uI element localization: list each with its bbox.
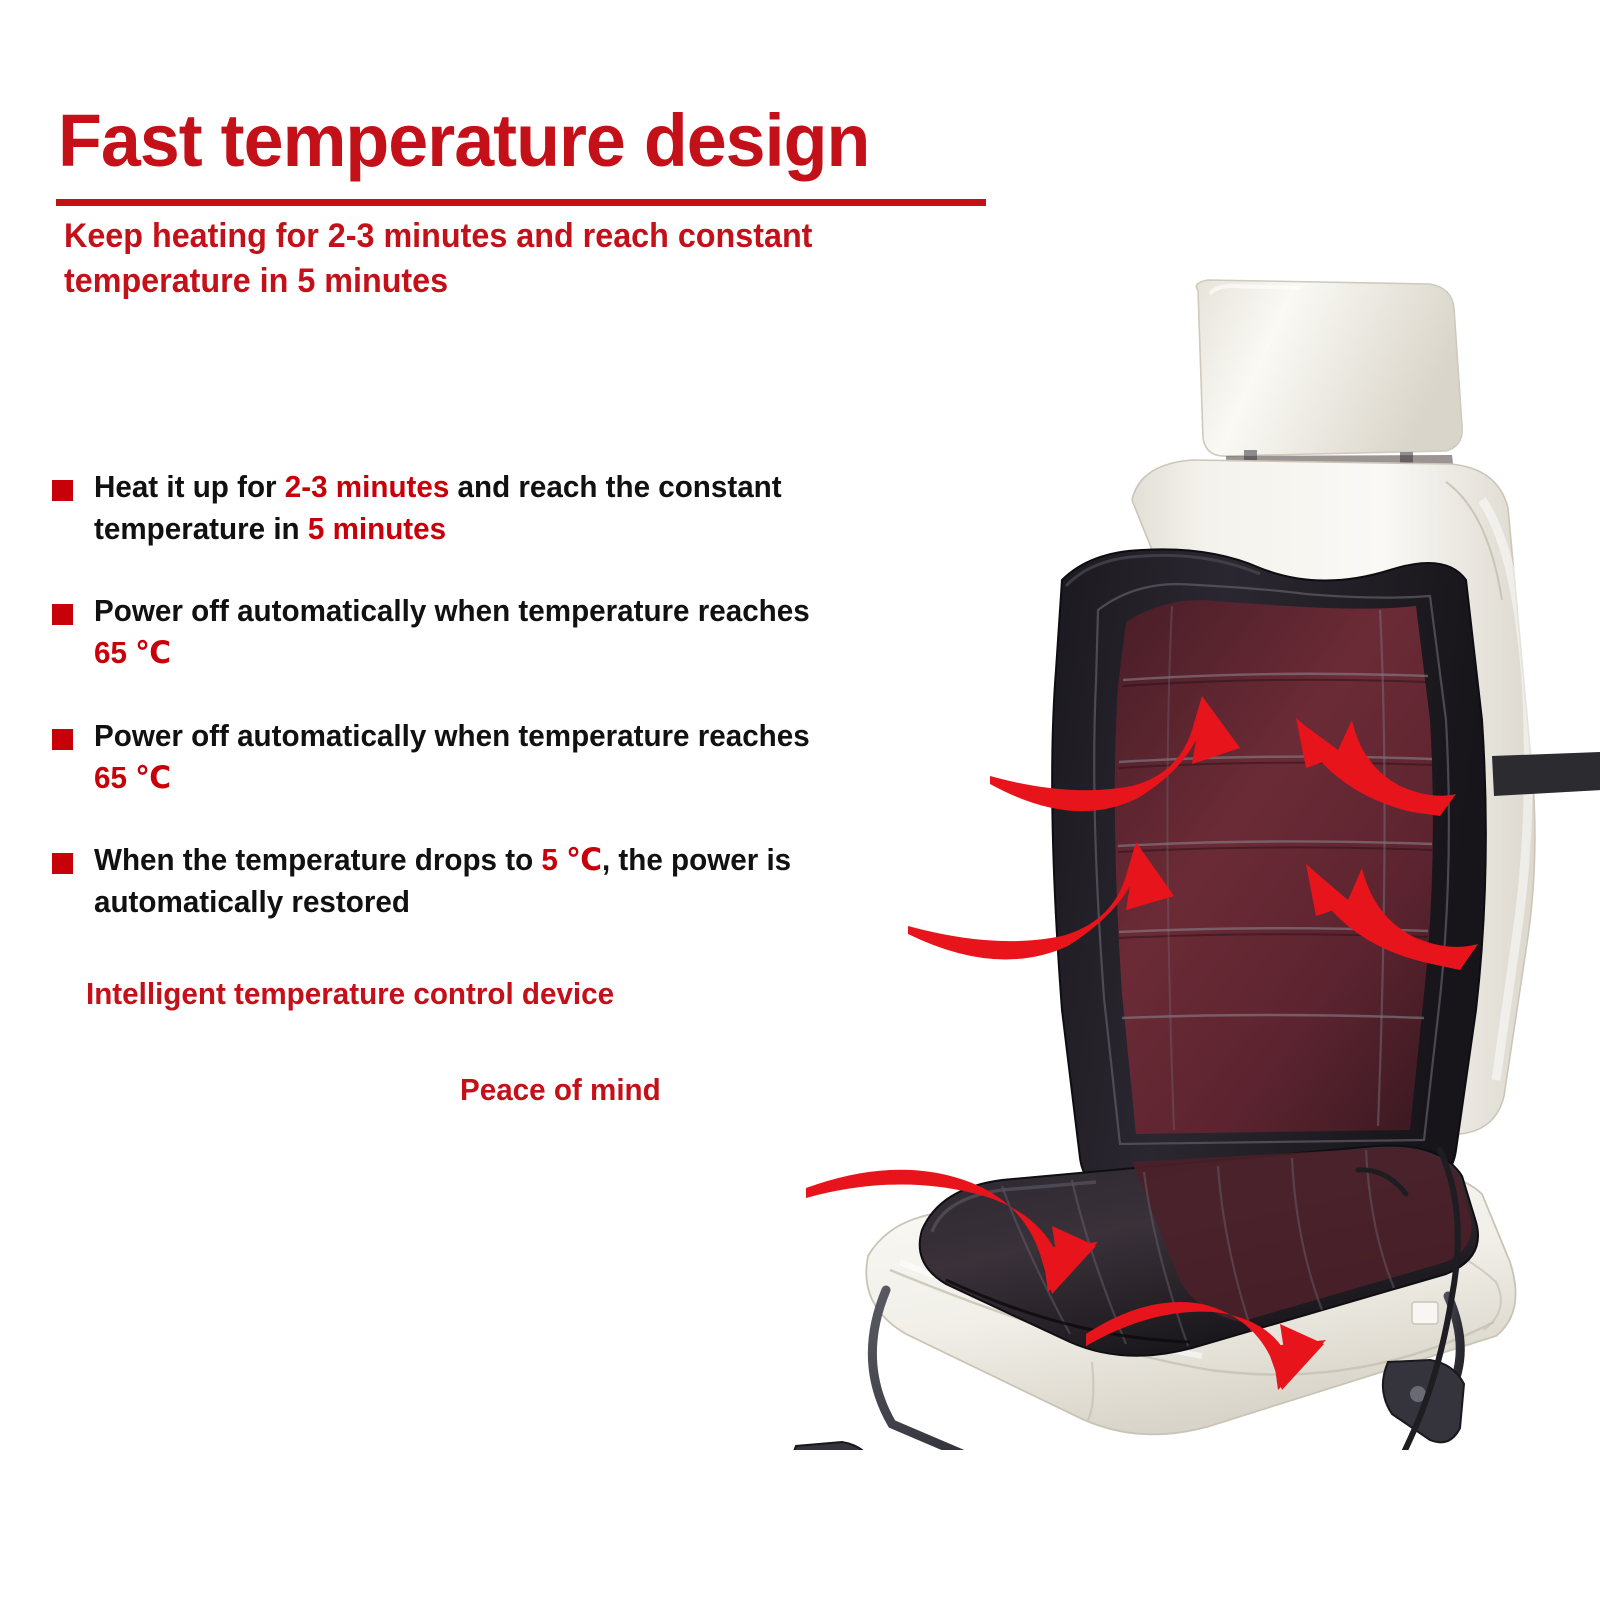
highlighted-value: 5 minutes bbox=[308, 511, 446, 546]
headrest bbox=[1196, 280, 1462, 456]
highlighted-value: 65 ℃ bbox=[94, 635, 171, 670]
bullet-text: Power off automatically when temperature… bbox=[94, 715, 833, 799]
highlighted-value: 5 ℃ bbox=[541, 842, 602, 877]
red-square-bullet-icon bbox=[52, 604, 73, 625]
heated-car-seat-figure bbox=[740, 250, 1600, 1450]
title-underline-rule bbox=[56, 199, 986, 206]
bullet-text: When the temperature drops to 5 ℃, the p… bbox=[94, 839, 833, 923]
heated-cushion-backrest bbox=[1052, 549, 1486, 1188]
highlighted-value: 65 ℃ bbox=[94, 760, 171, 795]
subtitle: Keep heating for 2-3 minutes and reach c… bbox=[64, 214, 824, 304]
bullet-text: Power off automatically when temperature… bbox=[94, 590, 833, 674]
seat-control-switch[interactable] bbox=[1412, 1302, 1438, 1324]
seatbelt-strap bbox=[1492, 752, 1600, 796]
plain-text: Heat it up for bbox=[94, 469, 285, 504]
red-square-bullet-icon bbox=[52, 853, 73, 874]
tagline-secondary: Peace of mind bbox=[460, 1072, 661, 1108]
plain-text: Power off automatically when temperature… bbox=[94, 718, 810, 753]
infographic-page: Fast temperature design Keep heating for… bbox=[0, 0, 1600, 1600]
page-title: Fast temperature design bbox=[58, 98, 869, 183]
car-seat-illustration bbox=[740, 250, 1600, 1450]
highlighted-value: 2-3 minutes bbox=[285, 469, 450, 504]
plain-text: When the temperature drops to bbox=[94, 842, 541, 877]
red-square-bullet-icon bbox=[52, 480, 73, 501]
bullet-text: Heat it up for 2-3 minutes and reach the… bbox=[94, 466, 833, 550]
tagline-primary: Intelligent temperature control device bbox=[86, 976, 614, 1012]
red-square-bullet-icon bbox=[52, 729, 73, 750]
plain-text: Power off automatically when temperature… bbox=[94, 593, 810, 628]
